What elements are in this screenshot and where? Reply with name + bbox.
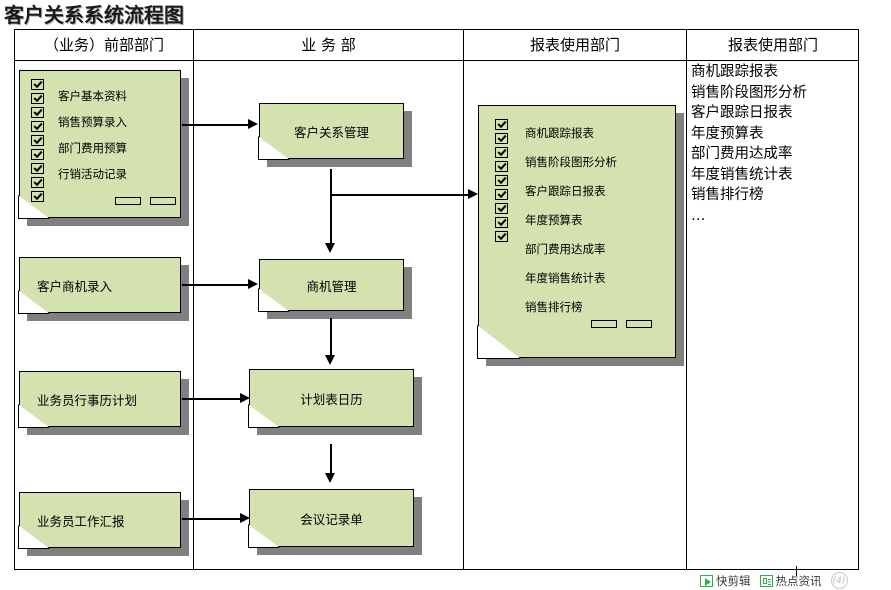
checkbox-icon[interactable] (495, 161, 508, 172)
connector-line (182, 398, 242, 400)
arrow-head-right (240, 513, 250, 523)
document-label: 业务员工作汇报 (19, 492, 199, 548)
connector-line (330, 169, 332, 245)
list-item: 年度销售统计表 (525, 270, 617, 286)
document-button[interactable] (115, 197, 141, 205)
document-label: 商机管理 (259, 259, 404, 311)
tray-button-hot-news[interactable]: 热点资讯 (760, 573, 822, 589)
document-plan-calendar[interactable]: 计划表日历 (249, 369, 414, 427)
connector-line (182, 124, 250, 126)
tray-button-label: 热点资讯 (776, 573, 822, 589)
list-item: 销售阶段图形分析 (691, 83, 856, 104)
document-meeting-minutes[interactable]: 会议记录单 (249, 489, 414, 547)
tray-button-label: 快剪辑 (716, 573, 751, 589)
document-sales-calendar-plan[interactable]: 业务员行事历计划 (19, 371, 181, 427)
connector-line (182, 518, 242, 520)
list-item: 部门费用达成率 (525, 241, 617, 257)
checklist-items: 商机跟踪报表 销售阶段图形分析 客户跟踪日报表 年度预算表 部门费用达成率 年度… (525, 125, 617, 315)
list-item: 行销活动记录 (58, 166, 127, 182)
connector-line (182, 284, 250, 286)
checkbox-icon[interactable] (31, 191, 44, 202)
connector-line (331, 194, 471, 196)
arrow-head-down (325, 355, 335, 365)
front-input-document[interactable]: 客户基本资料 销售预算录入 部门费用预算 行销活动记录 (19, 70, 181, 218)
document-button[interactable] (150, 197, 176, 205)
checkbox-column[interactable] (31, 79, 44, 205)
checkbox-icon[interactable] (495, 133, 508, 144)
list-item: 客户跟踪日报表 (691, 103, 856, 124)
page-title: 客户关系系统流程图 (4, 0, 184, 28)
checkbox-icon[interactable] (495, 119, 508, 130)
play-icon (700, 575, 713, 587)
list-item: 部门费用预算 (58, 140, 127, 156)
document-label: 计划表日历 (249, 369, 414, 427)
column-header-report-department: 报表使用部门 (464, 30, 686, 61)
column-divider-3 (686, 30, 687, 569)
document-label: 业务员行事历计划 (19, 371, 199, 427)
checkbox-icon[interactable] (31, 149, 44, 160)
column-header-business-department: 业 务 部 (194, 30, 463, 61)
document-opportunity-management[interactable]: 商机管理 (259, 259, 404, 311)
document-label: 客户关系管理 (259, 103, 404, 159)
bottom-tray: 快剪辑 热点资讯 (4) (700, 572, 848, 589)
arrow-head-down (325, 243, 335, 253)
column-header-front-department: （业务）前部部门 (15, 30, 193, 61)
checkbox-icon[interactable] (31, 135, 44, 146)
report-name-list: 商机跟踪报表 销售阶段图形分析 客户跟踪日报表 年度预算表 部门费用达成率 年度… (691, 62, 856, 226)
arrow-head-down (325, 473, 335, 483)
checkbox-icon[interactable] (31, 79, 44, 90)
connector-line (330, 444, 332, 476)
list-item: 年度预算表 (691, 124, 856, 145)
checkbox-icon[interactable] (495, 203, 508, 214)
arrow-head-right (240, 393, 250, 403)
checkbox-icon[interactable] (31, 177, 44, 188)
column-divider-2 (463, 30, 464, 569)
tray-button-quick-edit[interactable]: 快剪辑 (700, 573, 751, 589)
document-customer-opportunity-entry[interactable]: 客户商机录入 (19, 257, 181, 313)
list-item: 年度销售统计表 (691, 165, 856, 186)
checkbox-icon[interactable] (495, 189, 508, 200)
checkbox-icon[interactable] (31, 93, 44, 104)
checkbox-icon[interactable] (495, 217, 508, 228)
document-button-row[interactable] (115, 197, 176, 205)
list-item: 客户跟踪日报表 (525, 183, 617, 199)
list-item: 销售预算录入 (58, 114, 127, 130)
list-item: 商机跟踪报表 (691, 62, 856, 83)
column-header-report-list: 报表使用部门 (687, 30, 859, 61)
list-item: 销售排行榜 (525, 299, 617, 315)
document-crm[interactable]: 客户关系管理 (259, 103, 404, 159)
document-label: 会议记录单 (249, 489, 414, 547)
checkbox-icon[interactable] (495, 231, 508, 242)
arrow-head-right (468, 189, 478, 199)
checklist-items: 客户基本资料 销售预算录入 部门费用预算 行销活动记录 (58, 88, 127, 182)
document-button-row[interactable] (591, 320, 652, 328)
checkbox-icon[interactable] (31, 163, 44, 174)
list-item: 年度预算表 (525, 212, 617, 228)
connector-line (330, 318, 332, 358)
document-sales-work-report[interactable]: 业务员工作汇报 (19, 492, 181, 548)
checkbox-icon[interactable] (31, 107, 44, 118)
checkbox-icon[interactable] (495, 147, 508, 158)
checkbox-icon[interactable] (31, 121, 44, 132)
document-button[interactable] (591, 320, 617, 328)
checkbox-icon[interactable] (495, 175, 508, 186)
checkbox-column[interactable] (495, 119, 508, 245)
list-item: 客户基本资料 (58, 88, 127, 104)
list-item: 商机跟踪报表 (525, 125, 617, 141)
list-item: 销售排行榜 (691, 185, 856, 206)
badge-icon[interactable]: (4) (831, 572, 848, 589)
document-button[interactable] (626, 320, 652, 328)
list-item: 部门费用达成率 (691, 144, 856, 165)
folded-corner (477, 325, 521, 359)
list-item: 销售阶段图形分析 (525, 154, 617, 170)
news-icon (760, 575, 773, 587)
document-label: 客户商机录入 (19, 257, 199, 313)
list-item: … (691, 206, 856, 227)
report-output-document[interactable]: 商机跟踪报表 销售阶段图形分析 客户跟踪日报表 年度预算表 部门费用达成率 年度… (478, 105, 676, 358)
arrow-head-right (248, 119, 258, 129)
arrow-head-right (248, 279, 258, 289)
